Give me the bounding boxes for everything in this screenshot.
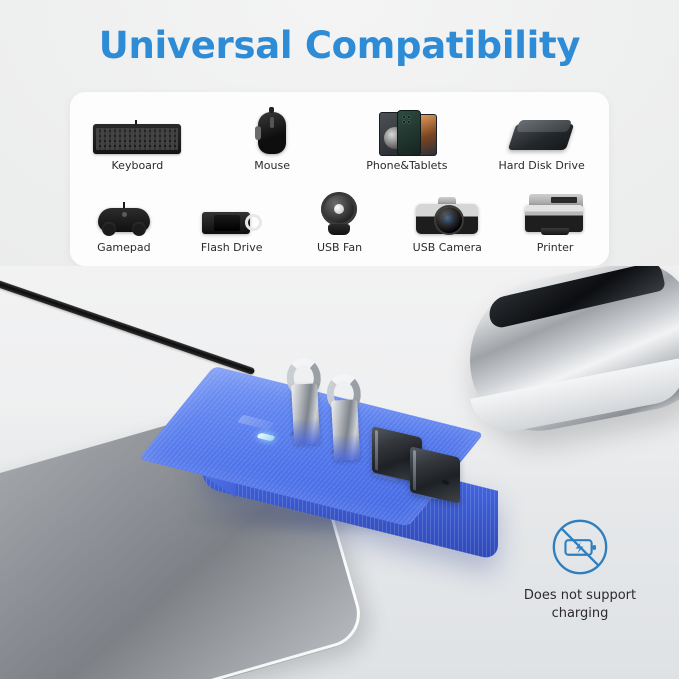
compat-item-phone-tablets: Phone&Tablets	[340, 106, 475, 172]
compat-label: Hard Disk Drive	[498, 159, 584, 172]
compat-label: Flash Drive	[201, 241, 263, 254]
compat-item-hard-disk-drive: Hard Disk Drive	[474, 106, 609, 172]
compat-label: USB Fan	[317, 241, 362, 254]
compatibility-card: Keyboard Mouse Phone&Tablets	[70, 92, 609, 266]
compat-label: Gamepad	[97, 241, 150, 254]
usb-hub-cable	[0, 274, 255, 375]
compat-item-usb-camera: USB Camera	[393, 188, 501, 254]
compat-item-usb-fan: USB Fan	[286, 188, 394, 254]
gamepad-icon	[98, 188, 150, 236]
mouse-icon	[258, 106, 286, 154]
product-marketing-image: Universal Compatibility Keyboard Mouse	[0, 0, 679, 679]
compat-label: Mouse	[254, 159, 290, 172]
badge-line-1: Does not support	[524, 587, 636, 605]
phone-tablet-icon	[379, 106, 435, 154]
plugged-flash-drive-2	[326, 373, 364, 461]
compat-item-flash-drive: Flash Drive	[178, 188, 286, 254]
compat-label: Keyboard	[112, 159, 164, 172]
compat-label: USB Camera	[413, 241, 482, 254]
hard-disk-drive-icon	[512, 106, 572, 154]
usb-fan-icon	[319, 188, 359, 236]
no-charging-badge: Does not support charging	[510, 516, 650, 644]
badge-text: Does not support charging	[524, 587, 636, 622]
usb-hub	[196, 366, 506, 526]
page-title: Universal Compatibility	[0, 24, 679, 67]
no-charging-icon	[549, 516, 611, 578]
compat-item-mouse: Mouse	[205, 106, 340, 172]
usb-camera-icon	[416, 188, 478, 236]
compat-item-gamepad: Gamepad	[70, 188, 178, 254]
flash-drive-icon	[202, 188, 262, 236]
plugged-flash-drive-1	[286, 357, 324, 445]
compat-item-printer: Printer	[501, 188, 609, 254]
badge-line-2: charging	[524, 605, 636, 623]
compatibility-row-2: Gamepad Flash Drive USB Fan USB Camera	[70, 188, 609, 254]
compat-item-keyboard: Keyboard	[70, 106, 205, 172]
printer-icon	[525, 188, 585, 236]
compat-label: Phone&Tablets	[366, 159, 447, 172]
keyboard-icon	[93, 106, 181, 154]
compatibility-row-1: Keyboard Mouse Phone&Tablets	[70, 106, 609, 172]
compat-label: Printer	[537, 241, 574, 254]
